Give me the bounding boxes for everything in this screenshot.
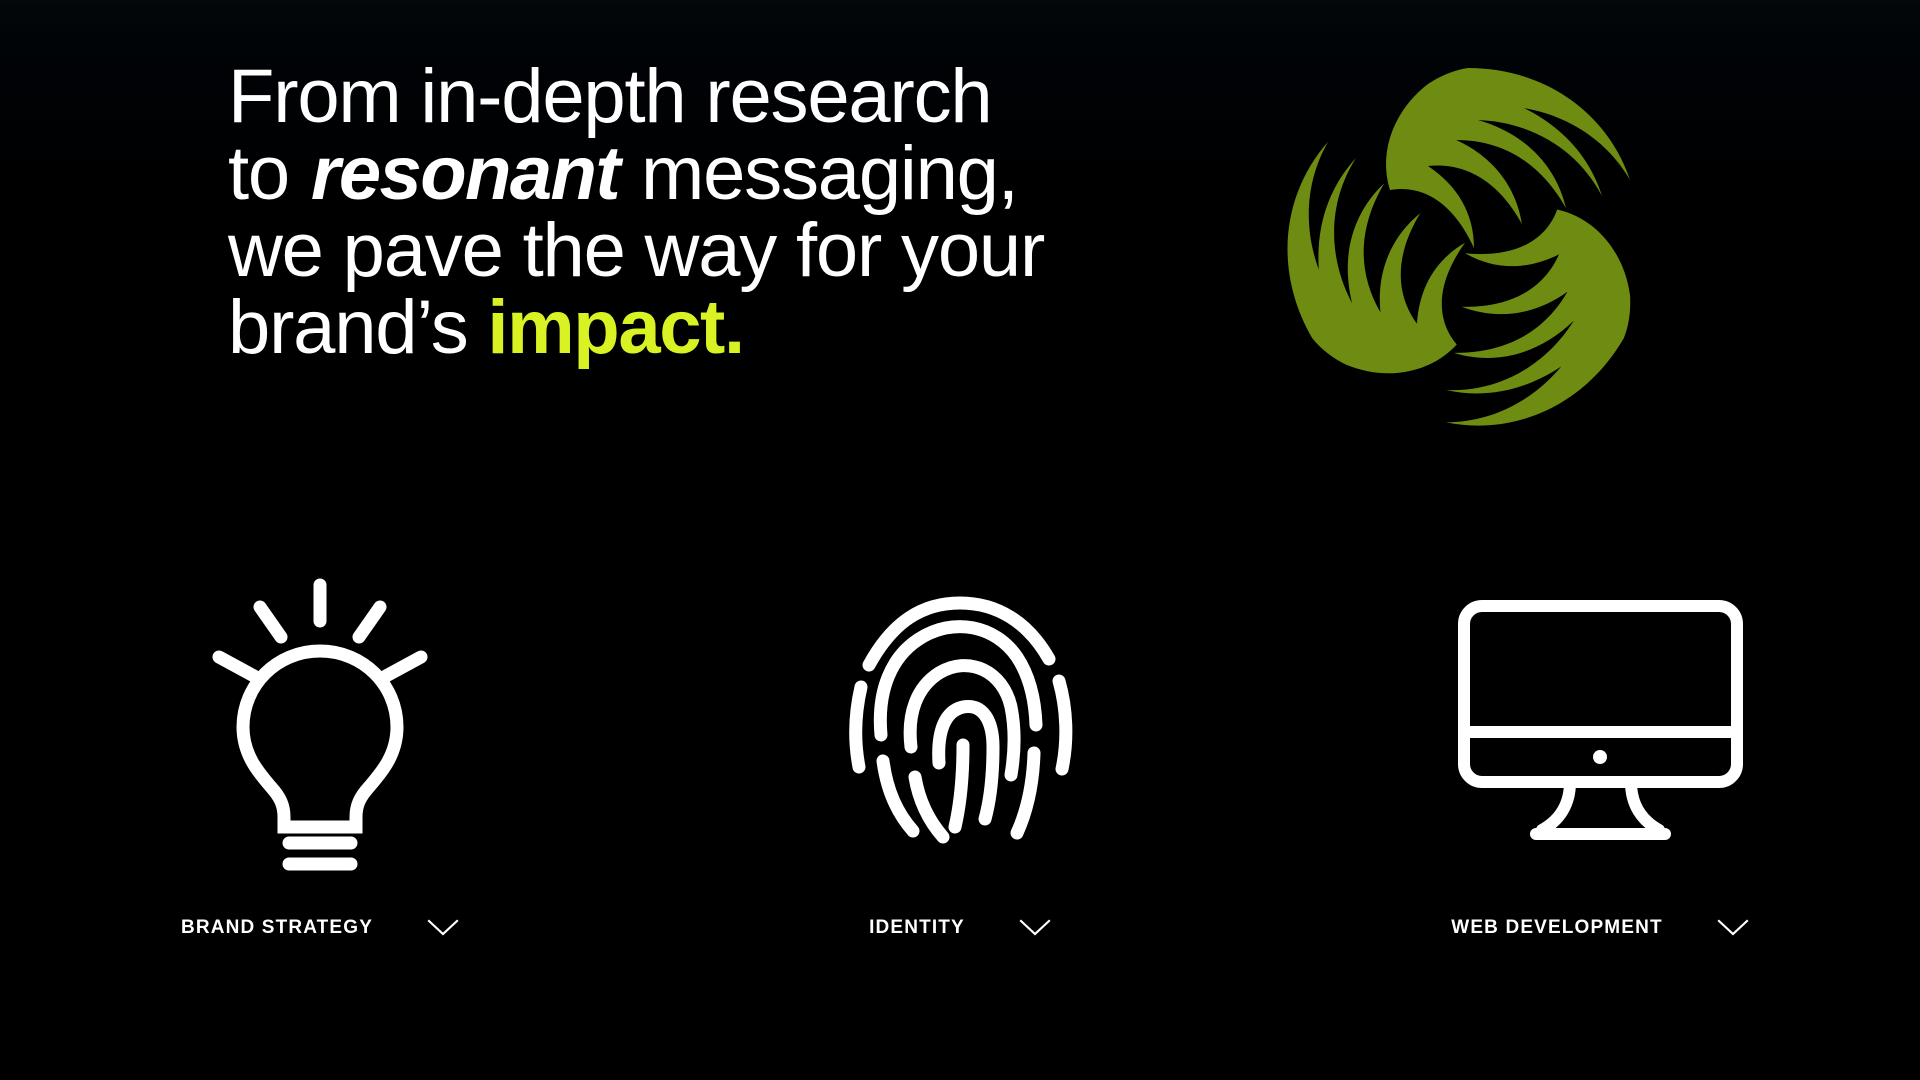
hero-section: From in-depth research to resonant messa… (228, 58, 1468, 366)
chevron-down-icon[interactable] (427, 919, 459, 937)
chevron-down-icon[interactable] (1717, 919, 1749, 937)
headline-line-2-after: messaging, (621, 131, 1018, 216)
headline-line-1: From in-depth research (228, 58, 1468, 135)
fingerprint-icon (835, 575, 1085, 875)
service-label-identity: IDENTITY (869, 917, 965, 939)
service-item-identity[interactable]: IDENTITY (640, 575, 1280, 995)
headline-line-4-before: brand’s (228, 285, 487, 370)
headline-emphasis-impact: impact. (487, 285, 743, 370)
service-label-web-development: WEB DEVELOPMENT (1451, 917, 1662, 939)
hero-headline: From in-depth research to resonant messa… (228, 58, 1468, 366)
headline-line-2-before: to (228, 131, 309, 216)
service-footer-brand-strategy: BRAND STRATEGY (181, 917, 459, 939)
service-footer-web-development: WEB DEVELOPMENT (1451, 917, 1748, 939)
service-label-brand-strategy: BRAND STRATEGY (181, 917, 373, 939)
chevron-down-icon[interactable] (1019, 919, 1051, 937)
service-item-web-development[interactable]: WEB DEVELOPMENT (1280, 575, 1920, 995)
headline-line-3: we pave the way for your (228, 212, 1468, 289)
service-footer-identity: IDENTITY (869, 917, 1051, 939)
monitor-icon (1458, 575, 1743, 875)
headline-line-4: brand’s impact. (228, 289, 1468, 366)
lightbulb-icon (205, 575, 435, 875)
service-item-brand-strategy[interactable]: BRAND STRATEGY (0, 575, 640, 995)
headline-line-2: to resonant messaging, (228, 135, 1468, 212)
services-row: BRAND STRATEGY (0, 575, 1920, 995)
headline-emphasis-resonant: resonant (309, 131, 621, 216)
